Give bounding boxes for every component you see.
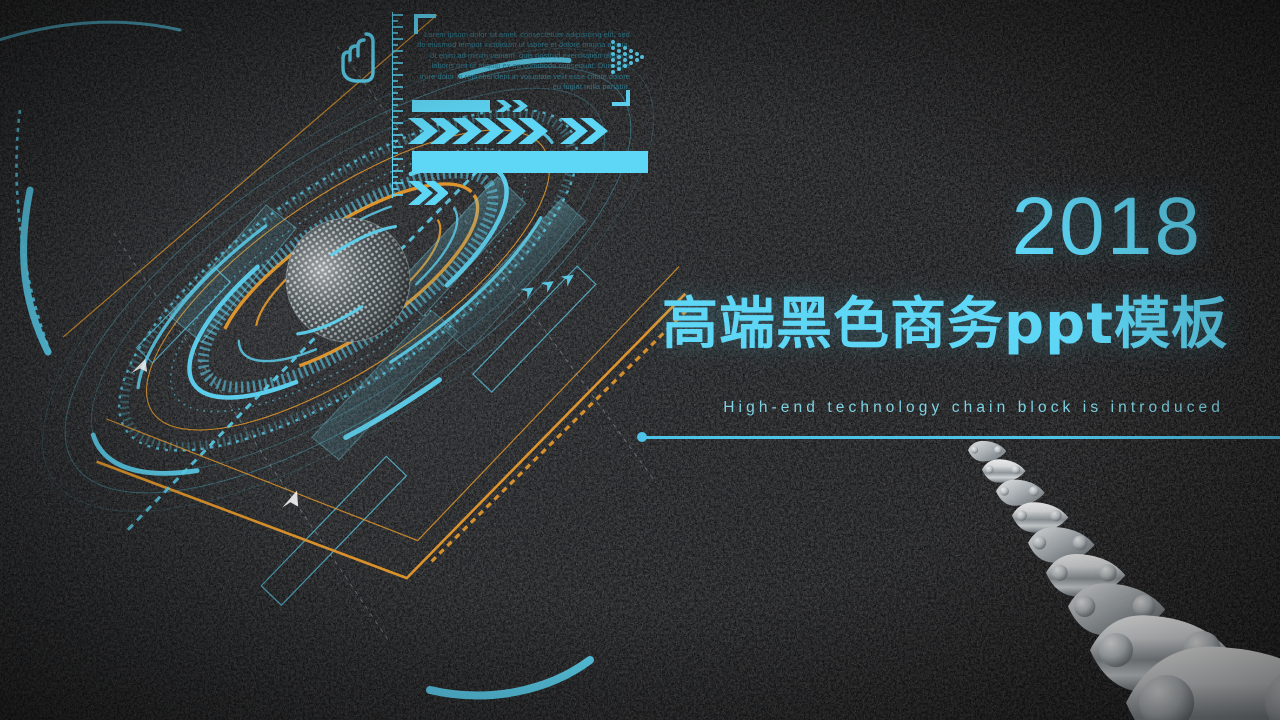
lorem-paragraph: Lorem ipsum dolor sit amet, consectetuer…: [416, 30, 630, 92]
hand-pointer-icon: [334, 26, 388, 84]
roller-chain-graphic: [930, 434, 1280, 720]
year-label: 2018: [1012, 186, 1202, 268]
striped-bar-icon: [412, 98, 542, 114]
tech-info-block: Lorem ipsum dolor sit amet, consectetuer…: [392, 8, 654, 198]
chevron-arrows-icon: [408, 116, 648, 146]
page-title: 高端黑色商务ppt模板: [662, 295, 1228, 355]
solid-cyan-bar: [412, 151, 648, 173]
divider-line: [645, 436, 1280, 439]
chevron-arrows-small-icon: [408, 180, 448, 206]
page-subtitle: High-end technology chain block is intro…: [723, 399, 1224, 417]
vertical-ruler-icon: [392, 12, 406, 198]
halftone-arrow-icon: [610, 36, 646, 80]
slide-canvas: Lorem ipsum dolor sit amet, consectetuer…: [0, 0, 1280, 720]
title-divider: [637, 435, 1280, 439]
